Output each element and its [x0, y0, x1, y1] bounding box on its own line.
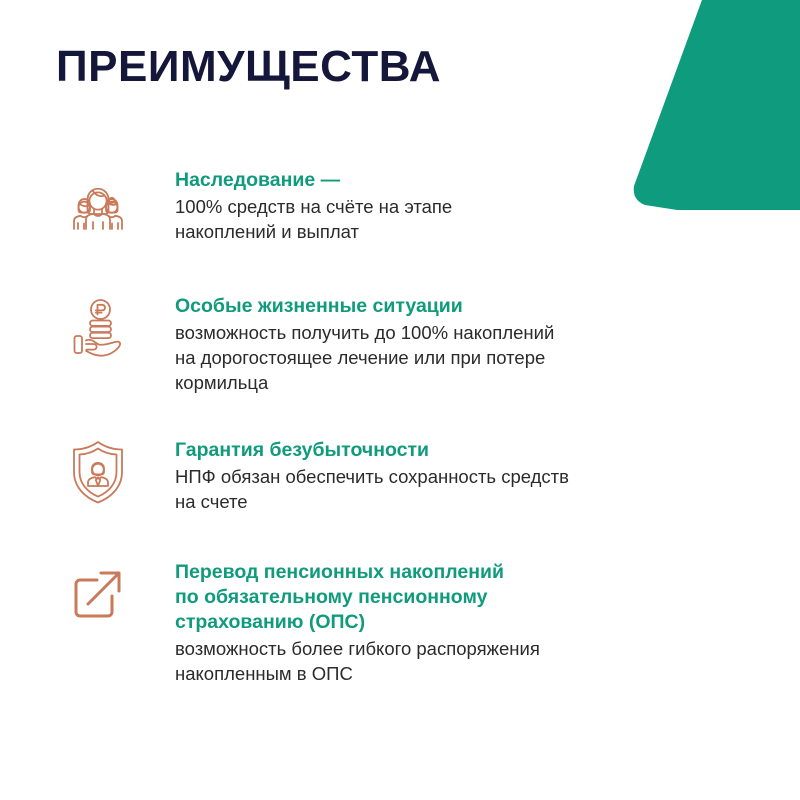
- page-title: ПРЕИМУЩЕСТВА: [56, 40, 441, 94]
- benefit-text-block: Перевод пенсионных накоплений по обязате…: [134, 552, 800, 686]
- benefit-heading: Гарантия безубыточности: [175, 438, 800, 463]
- benefit-body: возможность получить до 100% накоплений …: [175, 320, 800, 395]
- advantages-slide: ПРЕИМУЩЕСТВА: [0, 0, 800, 800]
- share-export-arrow-icon: [62, 558, 134, 630]
- benefit-body: 100% средств на счёте на этапе накоплени…: [175, 194, 800, 244]
- shield-person-icon: [62, 436, 134, 508]
- benefit-text-block: Особые жизненные ситуации возможность по…: [134, 286, 800, 395]
- benefit-item-inheritance: Наследование — 100% средств на счёте на …: [0, 160, 800, 244]
- benefit-item-loss-protection-guarantee: Гарантия безубыточности НПФ обязан обесп…: [0, 430, 800, 514]
- benefits-list: Наследование — 100% средств на счёте на …: [0, 160, 800, 686]
- benefit-body: НПФ обязан обеспечить сохранность средст…: [175, 464, 800, 514]
- benefit-item-special-life-situations: Особые жизненные ситуации возможность по…: [0, 286, 800, 395]
- benefit-item-ops-transfer: Перевод пенсионных накоплений по обязате…: [0, 552, 800, 686]
- family-group-icon: [62, 166, 134, 238]
- benefit-heading: Особые жизненные ситуации: [175, 294, 800, 319]
- benefit-heading: Перевод пенсионных накоплений по обязате…: [175, 560, 800, 635]
- benefit-text-block: Наследование — 100% средств на счёте на …: [134, 160, 800, 244]
- hand-holding-ruble-coins-icon: [62, 292, 134, 364]
- benefit-heading: Наследование —: [175, 168, 800, 193]
- benefit-text-block: Гарантия безубыточности НПФ обязан обесп…: [134, 430, 800, 514]
- benefit-body: возможность более гибкого распоряжения н…: [175, 636, 800, 686]
